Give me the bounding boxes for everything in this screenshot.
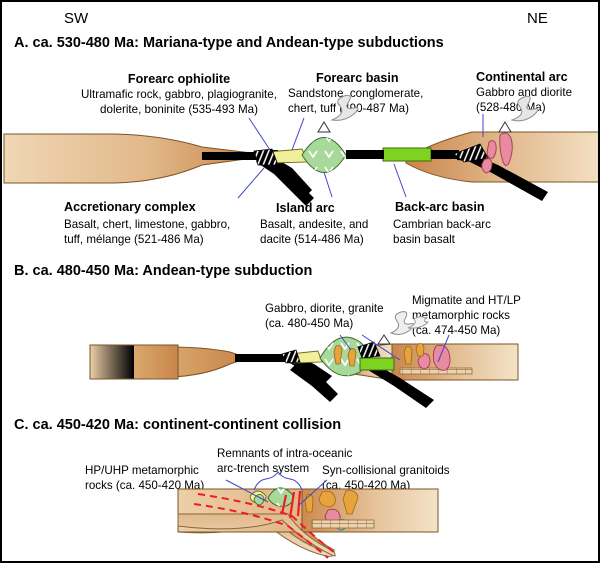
panel-a-island-arc-volcano-cone	[318, 122, 330, 132]
panel-b-pluton-orange-3	[404, 347, 412, 365]
panel-a-back-arc-basin	[383, 148, 431, 161]
cross-section-graphics	[2, 2, 600, 563]
panel-a-back-arc-crust-left2	[346, 150, 384, 159]
leader-accretionary-complex	[238, 168, 264, 198]
panel-a-continental-arc-volcano-cone	[499, 122, 511, 132]
panel-a-cross-section	[4, 95, 600, 206]
panel-b-qaidam-rect	[90, 345, 178, 379]
panel-c-pluton-orange-1	[305, 495, 313, 513]
panel-b-pluton-orange-4	[416, 344, 424, 357]
panel-b-back-arc-strip	[360, 358, 394, 370]
panel-c-sediment-layer	[312, 520, 374, 528]
leader-back-arc-basin	[394, 164, 406, 197]
panel-a-continental-arc-pluton-3	[482, 159, 492, 173]
panel-a-island-arc-vpattern	[302, 138, 346, 173]
panel-b-pluton-orange-1	[334, 346, 342, 365]
panel-c-cross-section	[178, 472, 438, 558]
panel-b-plume-icon	[391, 312, 414, 335]
leader-forearc-ophiolite	[249, 118, 270, 150]
panel-b-accretionary-wedge	[282, 350, 300, 363]
leader-island-arc	[324, 172, 332, 197]
panel-b-cross-section	[90, 312, 518, 408]
panel-b-migmatite-plume-icon	[408, 317, 428, 328]
panel-a-continental-arc-pluton-2	[487, 141, 496, 159]
panel-a-continental-arc-plume-icon	[512, 96, 538, 121]
panel-b-pluton-orange-2	[348, 349, 356, 367]
panel-b-volcano-cone	[378, 335, 390, 344]
panel-a-island-arc-plume-icon	[332, 95, 358, 120]
panel-c-remnants-brace	[254, 472, 302, 490]
panel-b-sediment-layer	[400, 368, 472, 374]
leader-forearc-basin	[292, 118, 304, 150]
geologic-cross-section-figure: SW NE A. ca. 530-480 Ma: Mariana-type an…	[0, 0, 600, 563]
